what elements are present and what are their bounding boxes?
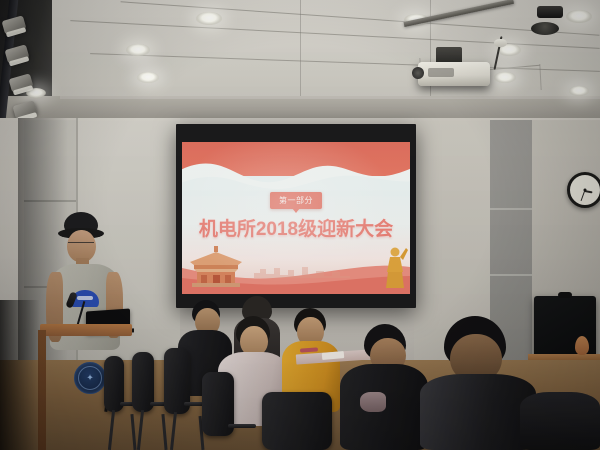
screen-surface: 第一部分 机电所2018级迎新大会 xyxy=(182,142,410,294)
slide-title: 机电所2018级迎新大会 xyxy=(182,214,410,241)
chair-arm xyxy=(228,424,256,428)
camera-icon xyxy=(558,292,572,298)
slide-section-badge: 第一部分 xyxy=(270,192,322,209)
clock-minute-hand xyxy=(581,190,586,201)
ceiling-speaker xyxy=(531,22,559,35)
ceiling-seam xyxy=(300,0,301,100)
ceiling-downlight xyxy=(569,86,589,96)
ceiling-downlight xyxy=(126,44,150,56)
wall-clock xyxy=(567,172,600,208)
ceiling-downlight xyxy=(566,10,592,23)
smoke-detector xyxy=(494,39,507,47)
chair-leg xyxy=(170,412,177,450)
attendee-edge xyxy=(520,392,600,450)
shirt-graphic xyxy=(360,392,386,412)
empty-chair xyxy=(202,372,256,450)
desk-object xyxy=(575,336,589,355)
ceiling-beam xyxy=(60,96,600,99)
ceiling-downlight xyxy=(196,12,222,25)
projection-screen: 第一部分 机电所2018级迎新大会 xyxy=(176,124,416,308)
slide-skyline-graphic xyxy=(254,264,350,278)
shirt-graphic-text xyxy=(77,296,93,300)
chair-leg xyxy=(137,410,144,450)
ceiling-downlight xyxy=(494,72,516,83)
attendee-shirt xyxy=(520,392,600,450)
ceiling-downlight xyxy=(137,72,159,83)
chair-back xyxy=(262,392,332,450)
ceiling-mount-box xyxy=(537,6,563,18)
lecture-hall-photo: 第一部分 机电所2018级迎新大会 xyxy=(0,0,600,450)
clock-center-pin xyxy=(584,189,587,192)
projector-lens xyxy=(412,67,424,79)
empty-chair xyxy=(262,392,332,450)
panel-seam xyxy=(490,274,532,276)
chair-leg xyxy=(108,410,115,450)
attendee-gray-tee xyxy=(420,316,536,450)
tiananmen-gate-icon xyxy=(184,244,248,290)
projector xyxy=(418,62,490,86)
golden-figure-icon xyxy=(382,244,408,288)
university-crest: ✦ xyxy=(74,362,106,394)
presentation-slide: 第一部分 机电所2018级迎新大会 xyxy=(182,142,410,294)
projector-vent xyxy=(428,68,454,77)
attendee-shirt xyxy=(420,374,536,450)
crest-glyph: ✦ xyxy=(86,374,94,383)
panel-seam xyxy=(490,208,532,210)
corner-shadow xyxy=(0,300,40,450)
glasses-icon xyxy=(68,242,94,246)
attendee-graphic-tee xyxy=(340,324,432,450)
